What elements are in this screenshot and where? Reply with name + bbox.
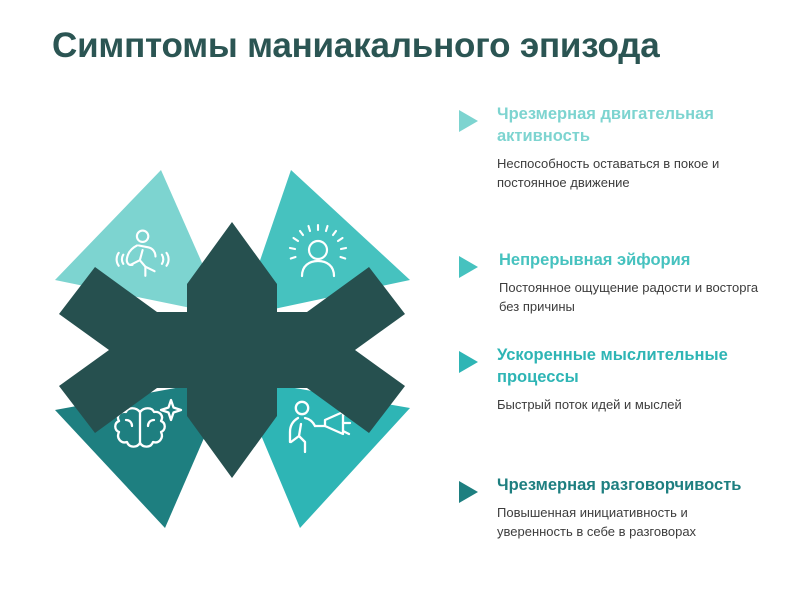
list-item-heading: Чрезмерная двигательная активность: [497, 104, 759, 148]
list-item-heading: Ускоренные мыслительные процессы: [497, 345, 759, 389]
page-title: Симптомы маниакального эпизода: [52, 26, 762, 66]
triangle-right-icon: [459, 256, 478, 278]
list-item-heading: Непрерывная эйфория: [499, 250, 759, 272]
list-item-description: Повышенная инициативность и уверенность …: [497, 503, 759, 542]
list-item-description: Неспособность оставаться в покое и посто…: [497, 154, 759, 193]
list-item: Непрерывная эйфория Постоянное ощущение …: [459, 250, 759, 317]
triangle-right-icon: [459, 110, 478, 132]
triangle-right-icon: [459, 481, 478, 503]
list-item-heading: Чрезмерная разговорчивость: [497, 475, 759, 497]
list-item: Чрезмерная разговорчивость Повышенная ин…: [459, 475, 759, 542]
triangle-right-icon: [459, 351, 478, 373]
infographic-page: Симптомы маниакального эпизода: [0, 0, 792, 610]
symptoms-diagram: [45, 160, 420, 540]
list-item: Чрезмерная двигательная активность Неспо…: [459, 104, 759, 193]
symptoms-list: Чрезмерная двигательная активность Неспо…: [459, 104, 759, 604]
list-item: Ускоренные мыслительные процессы Быстрый…: [459, 345, 759, 414]
list-item-description: Постоянное ощущение радости и восторга б…: [499, 278, 759, 317]
list-item-description: Быстрый поток идей и мыслей: [497, 395, 759, 415]
